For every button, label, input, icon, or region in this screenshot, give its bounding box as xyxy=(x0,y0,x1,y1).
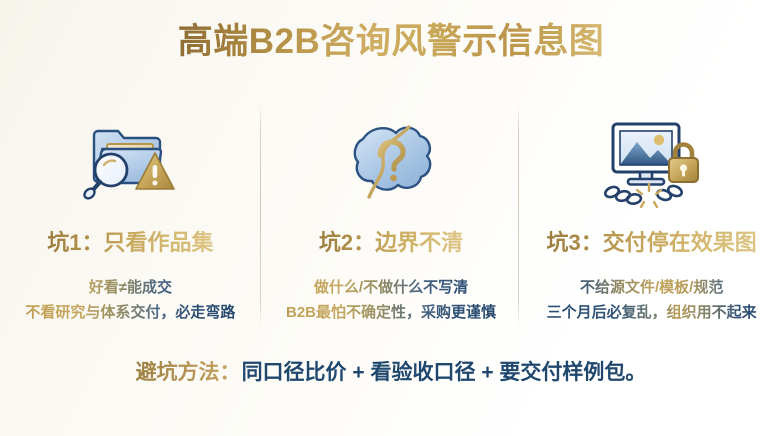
column-pitfall-3: 坑3：交付停在效果图 不给源文件/模板/规范 三个月后必复乱，组织用不起来 xyxy=(521,100,782,330)
column-divider xyxy=(260,105,261,327)
column-pitfall-1: 坑1：只看作品集 好看≠能成交 不看研究与体系交付，必走弯路 xyxy=(0,100,261,330)
columns-container: 坑1：只看作品集 好看≠能成交 不看研究与体系交付，必走弯路 xyxy=(0,100,782,330)
column-pitfall-2: 坑2：边界不清 做什么/不做什么不写清 B2B最怕不确定性，采购更谨慎 xyxy=(261,100,522,330)
card-heading: 坑1：只看作品集 xyxy=(47,228,213,258)
body-line: B2B最怕不确定性，采购更谨慎 xyxy=(286,300,496,325)
summary-label: 避坑方法： xyxy=(136,361,241,384)
card-body: 好看≠能成交 不看研究与体系交付，必走弯路 xyxy=(25,275,235,325)
title-container: 高端B2B咨询风警示信息图 xyxy=(0,20,782,64)
card-body: 不给源文件/模板/规范 三个月后必复乱，组织用不起来 xyxy=(547,275,757,325)
body-line: 好看≠能成交 xyxy=(25,275,235,300)
column-divider xyxy=(518,105,519,327)
body-line: 不看研究与体系交付，必走弯路 xyxy=(25,300,235,325)
card-heading: 坑3：交付停在效果图 xyxy=(547,228,757,258)
folder-magnifier-warning-icon xyxy=(76,110,184,212)
monitor-lock-broken-chain-icon xyxy=(596,110,708,212)
body-line: 做什么/不做什么不写清 xyxy=(286,275,496,300)
body-line: 三个月后必复乱，组织用不起来 xyxy=(547,300,757,325)
body-line: 不给源文件/模板/规范 xyxy=(547,275,757,300)
summary-text: 同口径比价 + 看验收口径 + 要交付样例包。 xyxy=(242,361,647,384)
card-body: 做什么/不做什么不写清 B2B最怕不确定性，采购更谨慎 xyxy=(286,275,496,325)
blurred-boundary-question-icon xyxy=(337,110,445,212)
card-heading: 坑2：边界不清 xyxy=(319,228,463,258)
infographic-canvas: 高端B2B咨询风警示信息图 xyxy=(0,0,782,436)
summary-container: 避坑方法：同口径比价 + 看验收口径 + 要交付样例包。 xyxy=(0,358,782,388)
page-title: 高端B2B咨询风警示信息图 xyxy=(178,20,605,64)
